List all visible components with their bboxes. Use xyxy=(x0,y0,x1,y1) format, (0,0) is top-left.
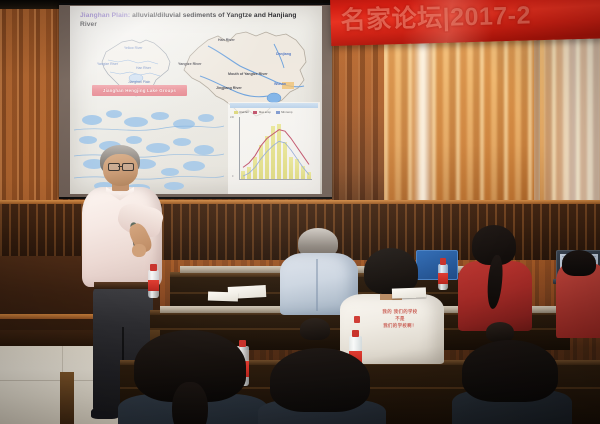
province-map-label: Han River xyxy=(218,38,235,42)
china-map-label: Jianghan Plain xyxy=(128,80,150,84)
head xyxy=(562,250,596,276)
slide-red-band-label: Jianghan Hengjing Lake Groups xyxy=(103,88,176,93)
province-map-label: Yangtze River xyxy=(178,62,202,66)
head xyxy=(462,340,558,402)
chart-header-bar xyxy=(230,103,318,108)
legend-item-rainfall: Rainfall xyxy=(234,111,248,114)
province-map-label: Danjiang xyxy=(276,52,291,56)
china-map-label: Han River xyxy=(136,66,151,70)
chart-ytick-max: 240 xyxy=(230,116,234,119)
climate-chart: Rainfall Max temp Min temp 240 0 xyxy=(228,102,320,194)
wall-between-screen-and-window xyxy=(332,28,386,204)
paper-sheet xyxy=(208,291,238,301)
chart-legend: Rainfall Max temp Min temp xyxy=(234,110,316,115)
distant-head xyxy=(486,322,514,342)
china-map-label: Yangtze River xyxy=(97,62,118,66)
province-map-label: Mouth of Yangtze River xyxy=(228,72,268,76)
slide-red-band: Jianghan Hengjing Lake Groups xyxy=(92,85,187,96)
paper-sheet xyxy=(392,287,426,298)
event-banner-text: 名家论坛|2017-2 xyxy=(340,0,599,36)
audience-person-far-right xyxy=(556,250,600,336)
event-banner: 名家论坛|2017-2 xyxy=(330,0,600,46)
audience-woman-red xyxy=(458,225,532,329)
foreground-person-center xyxy=(258,348,386,424)
tshirt-text: 我的 我们的学校 不是 我们的学校啊！ xyxy=(360,308,440,329)
lecture-hall-photo: Jianghan Plain: alluvial/diluvial sedime… xyxy=(0,0,600,424)
chart-plot-area xyxy=(239,117,312,180)
legend-item-max-temp: Max temp xyxy=(253,111,270,114)
ponytail xyxy=(172,382,208,424)
province-map-label: Wuhan xyxy=(274,82,286,86)
water-bottle xyxy=(148,264,159,298)
slide-title-highlight: Jianghan Plain: xyxy=(80,12,130,19)
chart-temp-lines xyxy=(240,117,312,179)
foreground-person-left xyxy=(118,330,268,424)
province-map-label: Jingjiang River xyxy=(216,86,242,90)
speaker-belt xyxy=(94,282,152,289)
china-map-label: Yellow River xyxy=(124,46,143,50)
distant-head xyxy=(300,318,330,340)
glasses-icon xyxy=(108,163,134,169)
speaker-hand xyxy=(132,244,146,257)
foreground-person-right xyxy=(452,340,572,424)
chair xyxy=(60,372,74,424)
window-curtains xyxy=(384,22,600,218)
head xyxy=(270,348,370,412)
chart-ytick-min: 0 xyxy=(232,175,233,178)
legend-item-min-temp: Min temp xyxy=(276,111,293,114)
water-bottle xyxy=(438,258,448,290)
curtain-light-gap xyxy=(412,22,434,218)
